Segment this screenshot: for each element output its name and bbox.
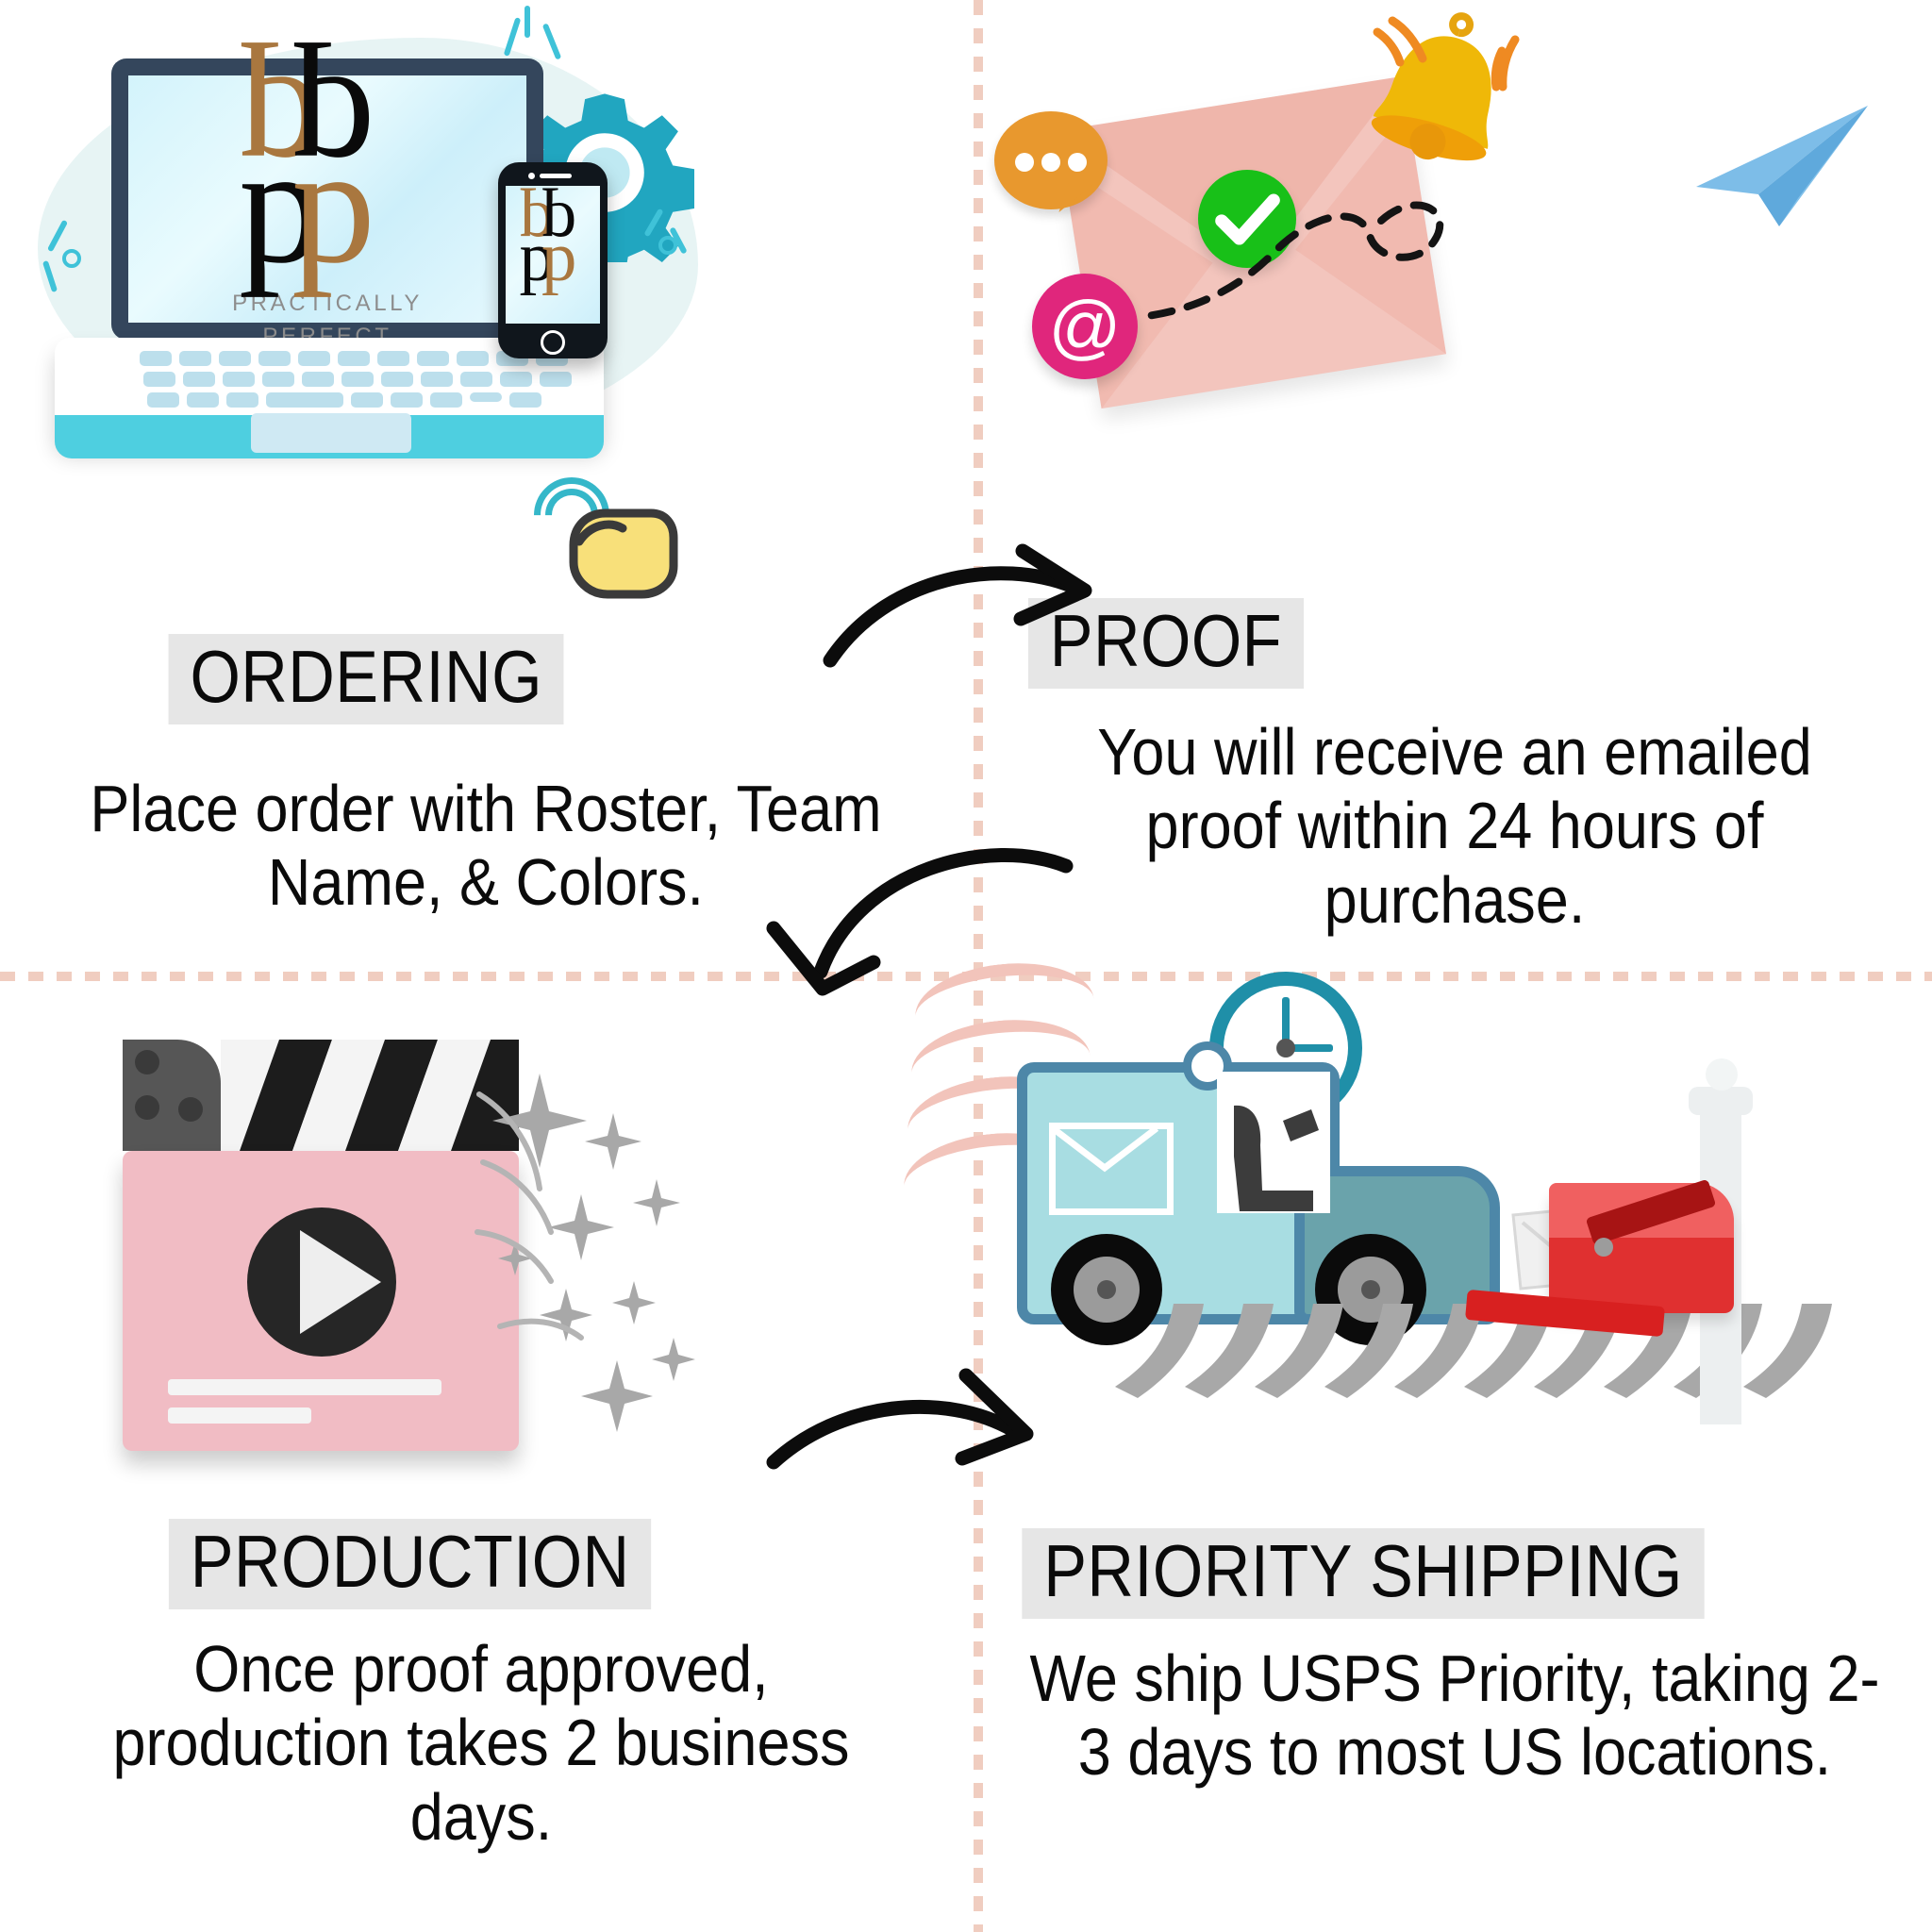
phone-camera (528, 173, 535, 179)
step-label-shipping: PRIORITY SHIPPING (1022, 1528, 1704, 1619)
arrow-production-to-shipping (764, 1358, 1104, 1547)
step-label-production: PRODUCTION (169, 1519, 652, 1609)
dashed-flight-path (1134, 179, 1530, 377)
truck-envelope-icon (1049, 1123, 1174, 1215)
paper-plane-icon (1689, 100, 1877, 232)
arrow-ordering-to-proof (821, 528, 1160, 717)
phone-speaker (540, 174, 572, 178)
play-triangle-icon (300, 1230, 381, 1334)
step-body-proof: You will receive an emailed proof within… (1022, 715, 1888, 937)
monogram-letter-right-lower: p (291, 121, 375, 289)
clapperboard-text-bar-1 (168, 1379, 441, 1395)
mailbox-post-cap (1689, 1087, 1753, 1115)
bell-icon (1360, 8, 1521, 187)
phone-monogram: p p p p (517, 209, 547, 245)
clapperboard-text-bar-2 (168, 1407, 311, 1424)
chat-bubble-icon (994, 111, 1108, 209)
step-panel-shipping: PRIORITY SHIPPING We ship USPS Priority,… (983, 981, 1932, 1932)
phone-home-button (541, 330, 565, 355)
click-cursor-icon (525, 472, 675, 594)
at-sign-icon: @ (1032, 274, 1138, 379)
mailbox-post-finial (1706, 1058, 1738, 1091)
step-body-shipping: We ship USPS Priority, taking 2-3 days t… (1013, 1641, 1896, 1790)
phone-monogram-d: p (541, 222, 576, 292)
step-panel-proof: @ (983, 0, 1932, 972)
clapperboard-top (123, 1036, 519, 1158)
infographic-canvas: p p p p PRACTICALLY PERFECT PRINTABLES (0, 0, 1932, 1932)
brand-monogram: p p p p (233, 92, 422, 295)
mailbox-flag-pivot (1594, 1238, 1613, 1257)
truck-driver-seat (1221, 1100, 1343, 1232)
arrow-proof-to-production (717, 849, 1075, 1085)
laptop-trackpad (251, 413, 411, 453)
clock-center (1276, 1039, 1295, 1058)
step-label-ordering: ORDERING (169, 634, 564, 724)
step-body-production: Once proof approved, production takes 2 … (57, 1632, 906, 1854)
sparkle-burst-icon (472, 1057, 736, 1453)
step-panel-ordering: p p p p PRACTICALLY PERFECT PRINTABLES (0, 0, 974, 972)
